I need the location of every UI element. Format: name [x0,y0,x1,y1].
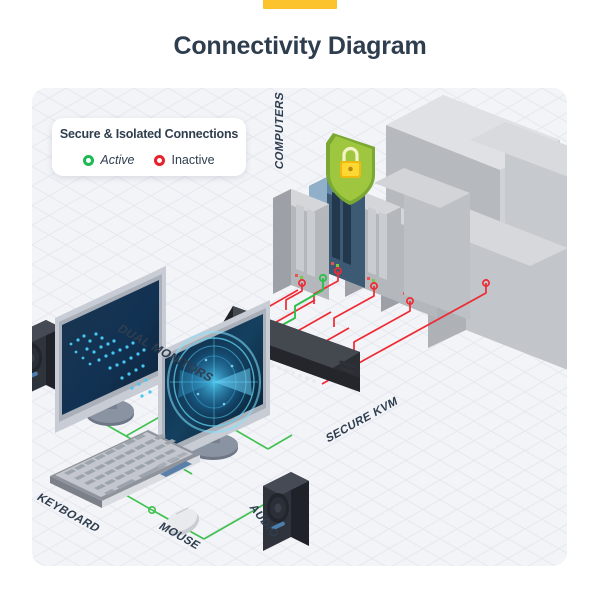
circle-outline-icon [83,155,94,166]
legend-card: Secure & Isolated Connections Active Ina… [52,118,246,176]
circle-outline-icon [154,155,165,166]
legend-title: Secure & Isolated Connections [52,127,246,141]
legend-label-inactive: Inactive [171,153,214,167]
legend-item-inactive: Inactive [154,153,214,167]
legend-label-active: Active [100,153,134,167]
legend-items: Active Inactive [52,148,246,172]
screenshot-root: Connectivity Diagram [0,0,600,600]
top-accent-bar [263,0,337,9]
legend-item-active: Active [83,153,134,167]
label-computers: COMPUTERS [274,91,286,171]
page-title: Connectivity Diagram [0,32,600,61]
